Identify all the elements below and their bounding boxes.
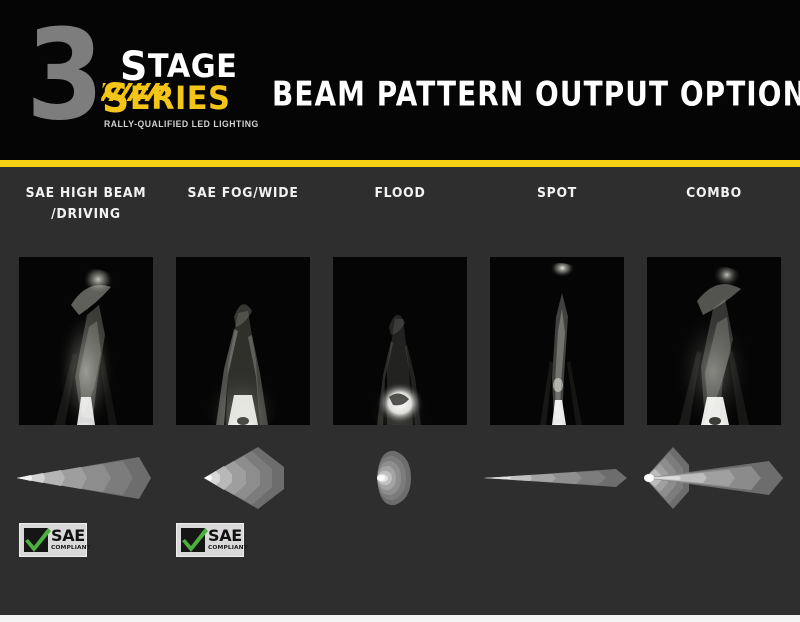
beam-option-column[interactable]: COMBO	[636, 167, 792, 615]
beam-photo-sae-high-beam-driving	[19, 257, 153, 425]
beam-option-column[interactable]: SAE FOG/WIDE	[165, 167, 321, 615]
beam-photo-combo	[647, 257, 781, 425]
beam-photo-spot	[490, 257, 624, 425]
checkbox-icon	[24, 528, 48, 552]
beam-option-column[interactable]: FLOOD	[322, 167, 478, 615]
beam-options-grid: SAE HIGH BEAM /DRIVING	[0, 167, 800, 615]
sae-compliant-badge: SAE COMPLIANT	[176, 523, 244, 557]
column-label-spot: SPOT	[485, 183, 629, 204]
beam-spread-diagram-sae-fog-wide	[168, 445, 318, 511]
yellow-accent-divider	[0, 160, 800, 167]
stage-series-logo: 3 STAGE SERIES RALLY-QUALIFIED LED LIGHT…	[24, 22, 254, 137]
column-label-sae-fog-wide: SAE FOG/WIDE	[171, 183, 315, 204]
beam-photo-flood	[333, 257, 467, 425]
column-label-combo: COMBO	[642, 183, 786, 204]
column-label-sae-high-beam-driving: SAE HIGH BEAM /DRIVING	[14, 183, 158, 225]
logo-series-rest: ERIES	[130, 79, 231, 117]
sae-badge-word: SAE	[51, 528, 89, 544]
sae-badge-sub: COMPLIANT	[51, 544, 91, 552]
sae-badge-text: SAE COMPLIANT	[205, 528, 246, 552]
beam-option-column[interactable]: SAE HIGH BEAM /DRIVING	[8, 167, 164, 615]
beam-spread-diagram-flood	[325, 445, 475, 511]
beam-spread-diagram-sae-high-beam-driving	[11, 445, 161, 511]
logo-word-series: SERIES	[102, 82, 230, 115]
footer-strip	[0, 615, 800, 622]
sae-badge-sub: COMPLIANT	[208, 544, 248, 552]
beam-option-column[interactable]: SPOT	[479, 167, 635, 615]
beam-spread-diagram-spot	[482, 445, 632, 511]
beam-pattern-poster: 3 STAGE SERIES RALLY-QUALIFIED LED LIGHT…	[0, 0, 800, 622]
logo-tagline: RALLY-QUALIFIED LED LIGHTING	[104, 119, 259, 129]
checkbox-icon	[181, 528, 205, 552]
beam-spread-diagram-combo	[639, 445, 789, 511]
beam-photo-sae-fog-wide	[176, 257, 310, 425]
sae-badge-word: SAE	[208, 528, 246, 544]
sae-badge-text: SAE COMPLIANT	[48, 528, 89, 552]
column-label-flood: FLOOD	[328, 183, 472, 204]
sae-compliant-badge: SAE COMPLIANT	[19, 523, 87, 557]
header-bar: 3 STAGE SERIES RALLY-QUALIFIED LED LIGHT…	[0, 0, 800, 160]
page-title: BEAM PATTERN OUTPUT OPTIONS	[272, 74, 740, 119]
